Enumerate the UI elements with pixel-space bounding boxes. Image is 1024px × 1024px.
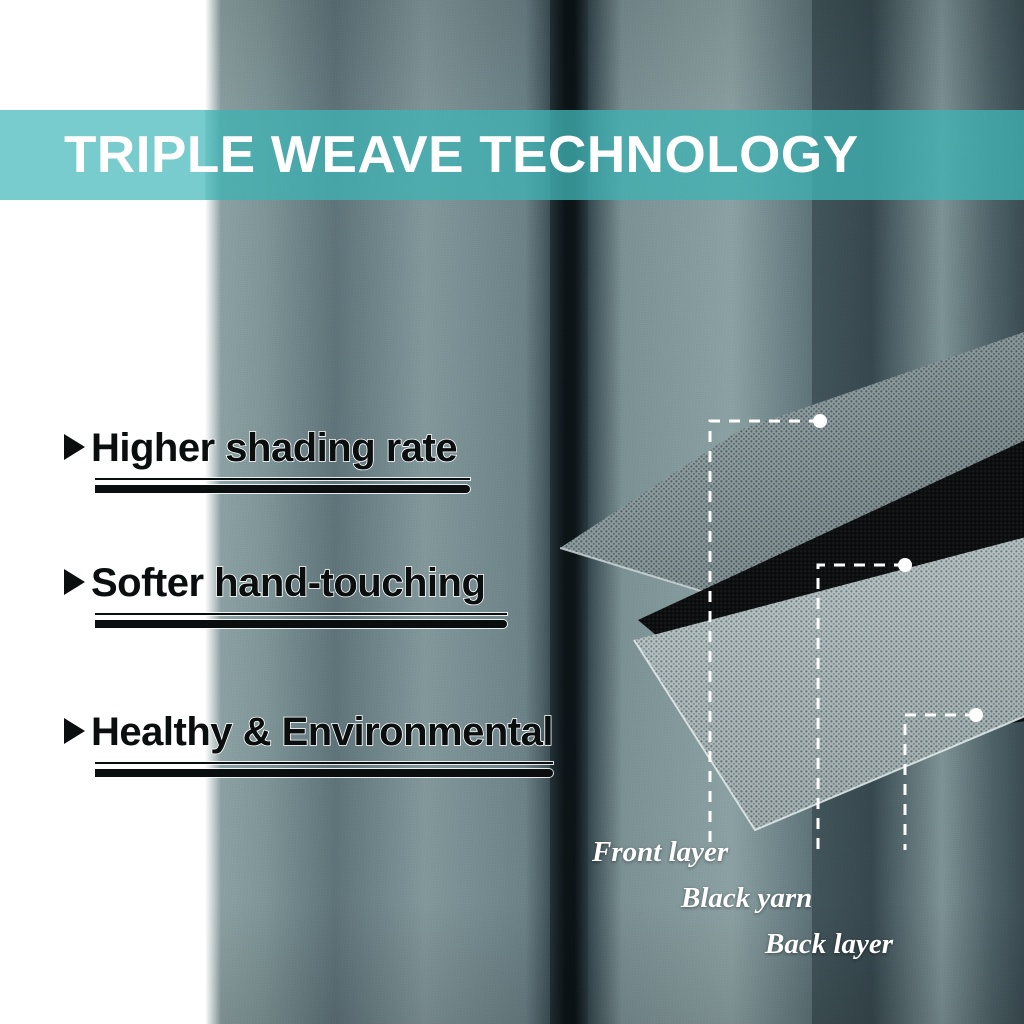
callout-black-yarn-label: Black yarn	[681, 882, 812, 914]
feature-row: Softer hand-touching	[64, 563, 485, 603]
page-title: TRIPLE WEAVE TECHNOLOGY	[64, 129, 859, 181]
triangle-right-icon	[64, 569, 85, 595]
rule-thick	[95, 769, 553, 777]
feature-label: Healthy & Environmental	[91, 712, 553, 752]
rule-thick	[95, 620, 507, 628]
feature-underline-rule	[95, 762, 553, 777]
triangle-right-icon	[64, 434, 85, 460]
feature-row: Higher shading rate	[64, 428, 457, 468]
feature-item-higher-shading-rate: Higher shading rate	[64, 428, 457, 468]
callout-front-layer: Front layer	[592, 838, 728, 867]
callout-back-layer-label: Back layer	[765, 928, 893, 960]
feature-item-healthy-environmental: Healthy & Environmental	[64, 712, 553, 752]
rule-thin	[95, 762, 553, 764]
feature-underline-rule	[95, 478, 470, 493]
callout-back-layer: Back layer	[765, 930, 893, 959]
feature-item-softer-hand-touching: Softer hand-touching	[64, 563, 485, 603]
rule-thin	[95, 613, 507, 615]
headline-banner: TRIPLE WEAVE TECHNOLOGY	[0, 110, 1024, 200]
rule-thin	[95, 478, 470, 480]
feature-label: Softer hand-touching	[91, 563, 485, 603]
product-feature-image: Front layer Black yarn Back layer TRIPLE…	[0, 0, 1024, 1024]
feature-label: Higher shading rate	[91, 428, 457, 468]
rule-thick	[95, 485, 470, 493]
feature-underline-rule	[95, 613, 507, 628]
callout-black-yarn: Black yarn	[681, 884, 812, 913]
triangle-right-icon	[64, 718, 85, 744]
feature-row: Healthy & Environmental	[64, 712, 553, 752]
callout-front-layer-label: Front layer	[592, 836, 728, 868]
